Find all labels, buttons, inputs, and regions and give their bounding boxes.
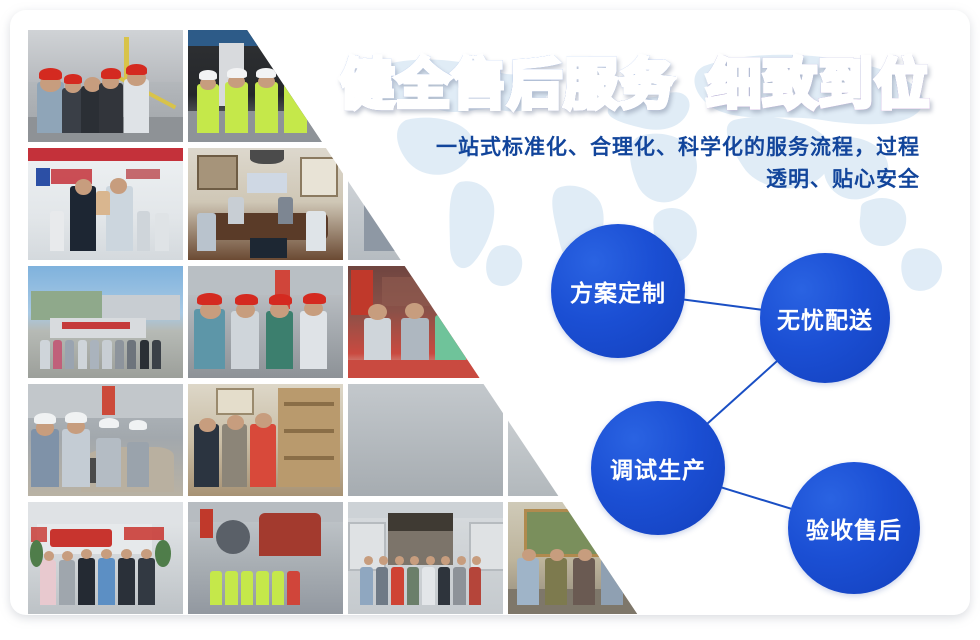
headline-part1: 健全售后服务: [340, 55, 676, 115]
photo-cell: [28, 266, 183, 378]
photo-cell: [188, 502, 343, 614]
flow-node-label: 验收售后: [806, 511, 902, 545]
photo-cell: [28, 384, 183, 496]
flow-node-label: 无忧配送: [777, 301, 873, 335]
photo-cell: [188, 266, 343, 378]
subtitle: 一站式标准化、合理化、科学化的服务流程，过程 透明、贴心安全: [360, 132, 920, 196]
subtitle-line-1: 一站式标准化、合理化、科学化的服务流程，过程: [360, 132, 920, 164]
flow-node-2[interactable]: 调试生产: [591, 401, 725, 535]
photo-cell: [188, 384, 343, 496]
photo-cell: [348, 384, 503, 496]
banner-card: 健全售后服务 细致到位 一站式标准化、合理化、科学化的服务流程，过程 透明、贴心…: [10, 10, 970, 615]
banner-stage: 健全售后服务 细致到位 一站式标准化、合理化、科学化的服务流程，过程 透明、贴心…: [0, 0, 980, 640]
flow-node-3[interactable]: 验收售后: [788, 462, 920, 594]
service-flow-diagram: 方案定制 无忧配送 调试生产 验收售后: [520, 210, 970, 610]
photo-cell: [188, 30, 343, 142]
photo-cell: [188, 148, 343, 260]
headline: 健全售后服务 细致到位: [340, 52, 920, 118]
flow-node-1[interactable]: 无忧配送: [760, 253, 890, 383]
photo-cell: [348, 266, 503, 378]
photo-cell: [28, 30, 183, 142]
headline-part2: 细致到位: [707, 55, 931, 115]
subtitle-line-2: 透明、贴心安全: [360, 164, 920, 196]
photo-cell: [28, 502, 183, 614]
photo-cell: [348, 502, 503, 614]
flow-node-label: 调试生产: [610, 451, 706, 485]
flow-node-0[interactable]: 方案定制: [551, 224, 685, 358]
flow-node-label: 方案定制: [570, 274, 666, 308]
photo-cell: [28, 148, 183, 260]
